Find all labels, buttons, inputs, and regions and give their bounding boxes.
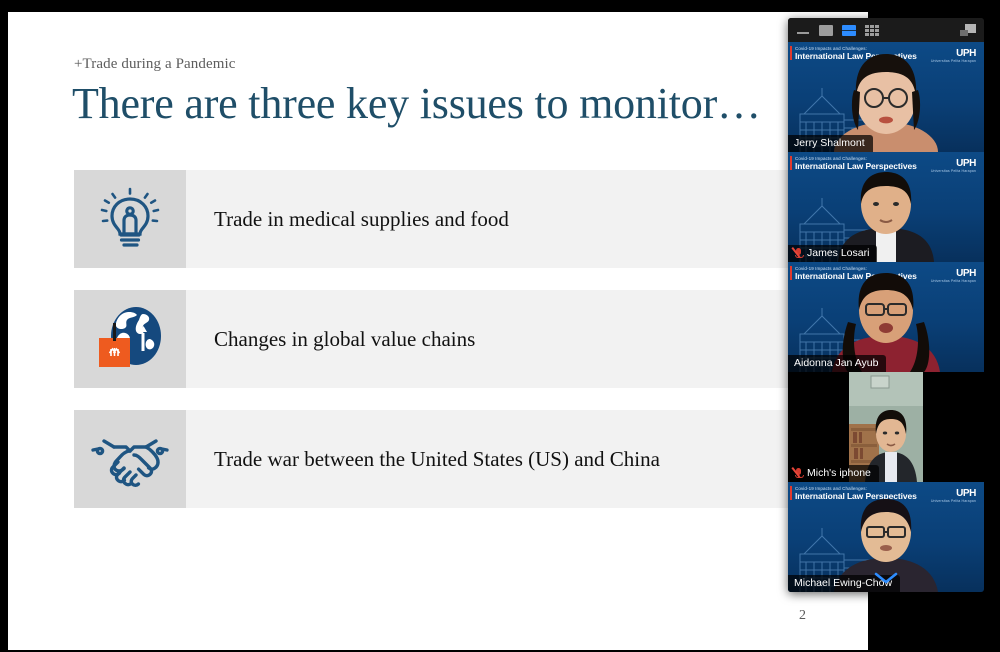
- participant-name: James Losari: [807, 247, 869, 259]
- zoom-video-panel[interactable]: Covid-19 Impacts and Challenges: Interna…: [788, 18, 984, 592]
- banner-accent-bar: [790, 486, 792, 500]
- list-item: Changes in global value chains: [74, 290, 864, 388]
- list-item-label: Changes in global value chains: [186, 327, 475, 352]
- slide-page-number: 2: [799, 608, 806, 624]
- banner-accent-bar: [790, 46, 792, 60]
- list-item: Trade war between the United States (US)…: [74, 410, 864, 508]
- participant-tile[interactable]: Covid-19 Impacts and Challenges: Interna…: [788, 42, 984, 152]
- minimize-icon[interactable]: [796, 25, 810, 36]
- list-item-label: Trade in medical supplies and food: [186, 207, 509, 232]
- list-item-label: Trade war between the United States (US)…: [186, 447, 660, 472]
- handshake-icon: [74, 410, 186, 508]
- participant-tile[interactable]: Covid-19 Impacts and Challenges: Interna…: [788, 262, 984, 372]
- page-title: There are three key issues to monitor…: [72, 78, 761, 129]
- zoom-view-toolbar[interactable]: [788, 18, 984, 42]
- participant-name: Mich's iphone: [807, 467, 871, 479]
- gallery-view-icon[interactable]: [865, 25, 879, 36]
- uph-logo-mark: UPH: [931, 158, 976, 169]
- single-speaker-view-icon[interactable]: [819, 25, 833, 36]
- shared-slide: +Trade during a Pandemic There are three…: [8, 12, 868, 650]
- participant-tile[interactable]: Mich's iphone: [788, 372, 984, 482]
- participant-name-badge: James Losari: [788, 245, 877, 262]
- slide-eyebrow: +Trade during a Pandemic: [74, 56, 236, 73]
- banner-accent-bar: [790, 156, 792, 170]
- banner-accent-bar: [790, 266, 792, 280]
- participant-name: Jerry Shalmont: [794, 137, 865, 149]
- muted-microphone-icon: [794, 248, 803, 259]
- participant-name: Aidonna Jan Ayub: [794, 357, 878, 369]
- virtual-background-banner: Covid-19 Impacts and Challenges: Interna…: [795, 157, 917, 171]
- globe-cargo-box-icon: [74, 290, 186, 388]
- lightbulb-person-icon: [74, 170, 186, 268]
- participant-tiles: Covid-19 Impacts and Challenges: Interna…: [788, 42, 984, 592]
- participant-name-badge: Jerry Shalmont: [788, 135, 873, 152]
- chevron-down-icon[interactable]: [874, 572, 898, 584]
- participant-name-badge: Aidonna Jan Ayub: [788, 355, 886, 372]
- list-item: Trade in medical supplies and food: [74, 170, 864, 268]
- participant-tile[interactable]: Covid-19 Impacts and Challenges: Interna…: [788, 152, 984, 262]
- key-issues-list: Trade in medical supplies and food: [74, 170, 864, 530]
- popout-video-icon[interactable]: [960, 24, 976, 36]
- participant-name-badge: Mich's iphone: [788, 465, 879, 482]
- participant-tile[interactable]: Covid-19 Impacts and Challenges: Interna…: [788, 482, 984, 592]
- muted-microphone-icon: [794, 468, 803, 479]
- active-speaker-view-icon[interactable]: [842, 25, 856, 36]
- screen: +Trade during a Pandemic There are three…: [0, 0, 1000, 652]
